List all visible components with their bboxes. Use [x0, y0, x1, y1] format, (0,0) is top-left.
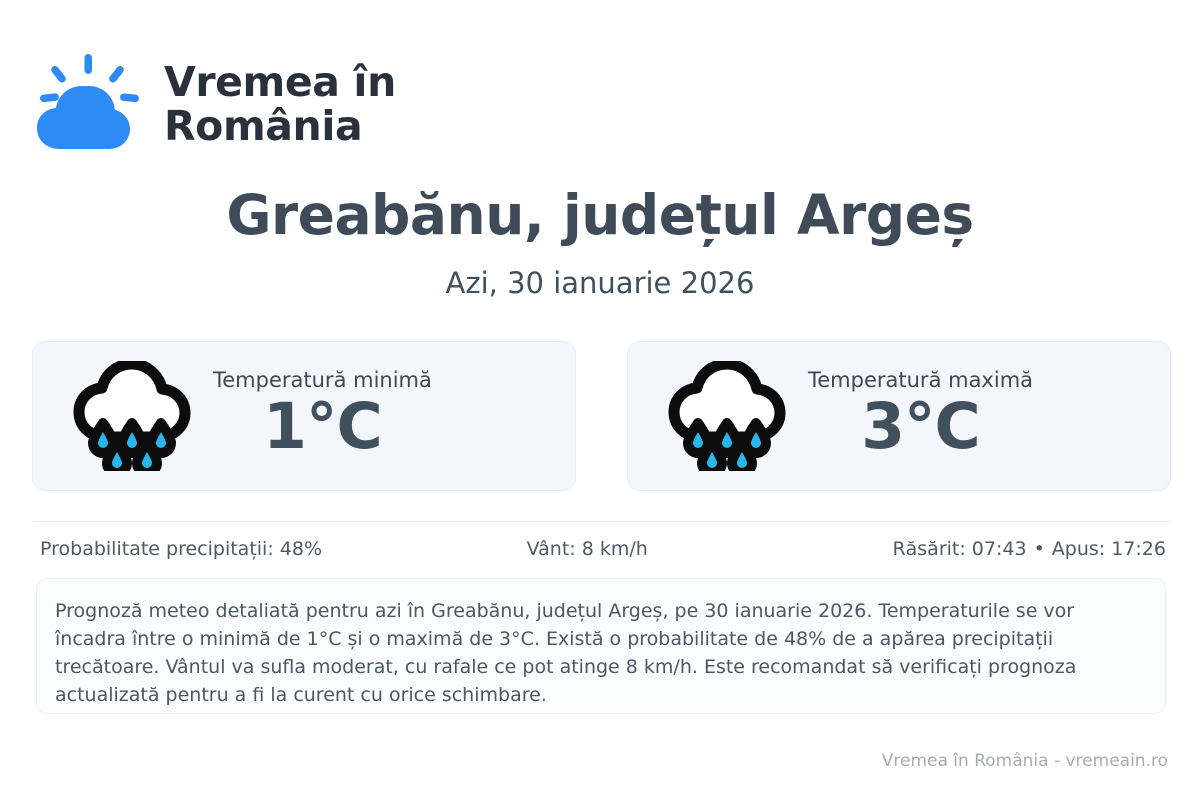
footer-credit: Vremea în România - vremeain.ro: [882, 751, 1168, 771]
rain-cloud-icon: [73, 361, 191, 471]
min-temperature-label: Temperatură minimă: [213, 369, 432, 392]
wind-stat: Vânt: 8 km/h: [527, 538, 648, 560]
forecast-description-box: Prognoză meteo detaliată pentru azi în G…: [36, 578, 1166, 714]
brand-header[interactable]: Vremea în România: [34, 52, 396, 156]
weather-page: Vremea în România Greabănu, județul Arge…: [0, 0, 1200, 800]
min-temperature-text: Temperatură minimă 1°C: [213, 369, 432, 463]
section-divider: [34, 521, 1170, 522]
stat-separator: •: [1034, 538, 1045, 560]
max-temperature-card: Temperatură maximă 3°C: [627, 341, 1171, 491]
brand-title-line2: România: [164, 104, 396, 148]
forecast-description-text: Prognoză meteo detaliată pentru azi în G…: [55, 597, 1143, 709]
sunset-time: Apus: 17:26: [1052, 538, 1166, 560]
temperature-cards: Temperatură minimă 1°C: [32, 341, 1171, 491]
sunrise-time: Răsărit: 07:43: [892, 538, 1026, 560]
forecast-date: Azi, 30 ianuarie 2026: [0, 266, 1200, 300]
max-temperature-text: Temperatură maximă 3°C: [808, 369, 1033, 463]
sun-times-stat: Răsărit: 07:43•Apus: 17:26: [892, 538, 1166, 560]
brand-title-line1: Vremea în: [164, 60, 396, 104]
precipitation-stat: Probabilitate precipitații: 48%: [40, 538, 322, 560]
max-temperature-label: Temperatură maximă: [808, 369, 1033, 392]
min-temperature-card: Temperatură minimă 1°C: [32, 341, 576, 491]
rain-cloud-icon: [668, 361, 786, 471]
max-temperature-value: 3°C: [861, 392, 980, 463]
sun-behind-cloud-icon: [34, 52, 144, 156]
page-title: Greabănu, județul Argeș: [0, 183, 1200, 247]
brand-title: Vremea în România: [164, 60, 396, 149]
min-temperature-value: 1°C: [263, 392, 382, 463]
weather-stats-row: Probabilitate precipitații: 48% Vânt: 8 …: [40, 538, 1166, 560]
